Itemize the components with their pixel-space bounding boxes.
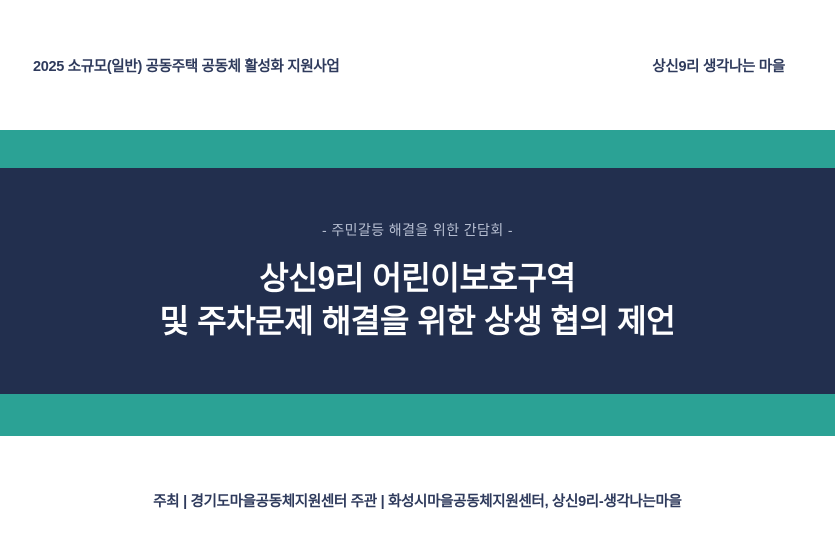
page-title: 상신9리 어린이보호구역 및 주차문제 해결을 위한 상생 협의 제언 <box>160 257 676 343</box>
organizer-credits-label: 주최 | 경기도마을공동체지원센터 주관 | 화성시마을공동체지원센터, 상신9… <box>153 490 681 511</box>
teal-accent-band-top <box>0 130 835 168</box>
meeting-type-label: - 주민갈등 해결을 위한 간담회 - <box>322 220 513 240</box>
title-block: - 주민갈등 해결을 위한 간담회 - 상신9리 어린이보호구역 및 주차문제 … <box>0 168 835 394</box>
program-name-label: 2025 소규모(일반) 공동주택 공동체 활성화 지원사업 <box>33 55 340 76</box>
navy-title-band: - 주민갈등 해결을 위한 간담회 - 상신9리 어린이보호구역 및 주차문제 … <box>0 168 835 394</box>
community-name-label: 상신9리 생각나는 마을 <box>652 55 785 76</box>
slide-header: 2025 소규모(일반) 공동주택 공동체 활성화 지원사업 상신9리 생각나는… <box>0 0 835 130</box>
page-title-line-1: 상신9리 어린이보호구역 <box>160 257 676 300</box>
slide-footer: 주최 | 경기도마을공동체지원센터 주관 | 화성시마을공동체지원센터, 상신9… <box>0 436 835 533</box>
teal-accent-band-bottom <box>0 394 835 436</box>
title-slide: 2025 소규모(일반) 공동주택 공동체 활성화 지원사업 상신9리 생각나는… <box>0 0 835 533</box>
page-title-line-2: 및 주차문제 해결을 위한 상생 협의 제언 <box>160 300 676 343</box>
